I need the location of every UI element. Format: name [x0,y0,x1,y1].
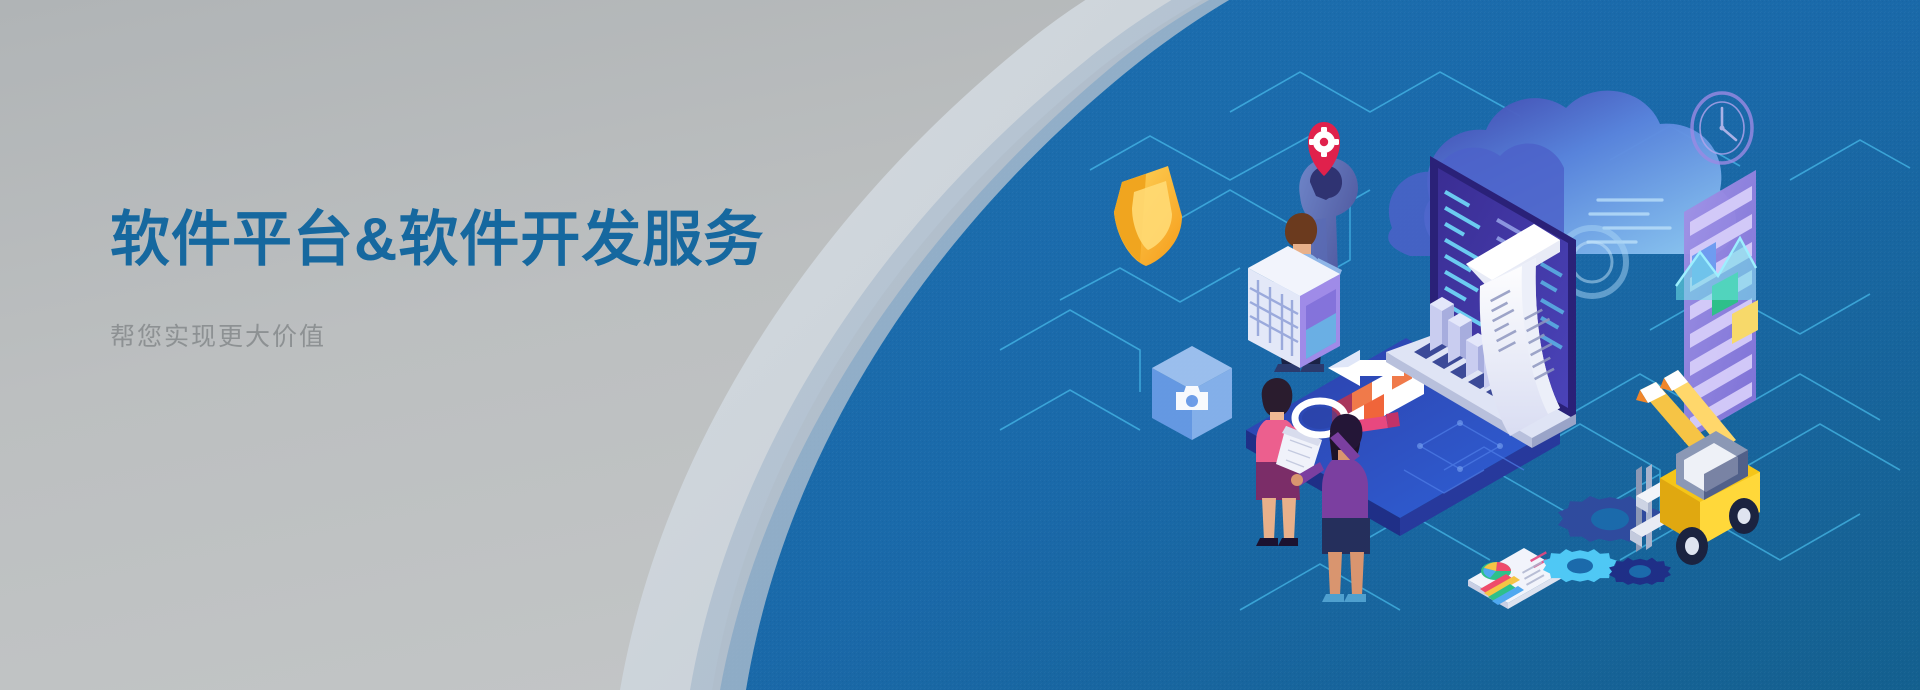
banner-text-block: 软件平台&软件开发服务 帮您实现更大价值 [110,205,870,352]
camera-tile-icon [1152,346,1232,440]
page-subtitle: 帮您实现更大价值 [110,322,870,352]
clock-icon [1692,93,1752,163]
report-card [1468,548,1564,609]
forklift-vehicle [1630,431,1760,565]
page-title: 软件平台&软件开发服务 [110,205,870,274]
hero-banner: 软件平台&软件开发服务 帮您实现更大价值 [0,0,1920,690]
shield-icon [1114,166,1182,266]
